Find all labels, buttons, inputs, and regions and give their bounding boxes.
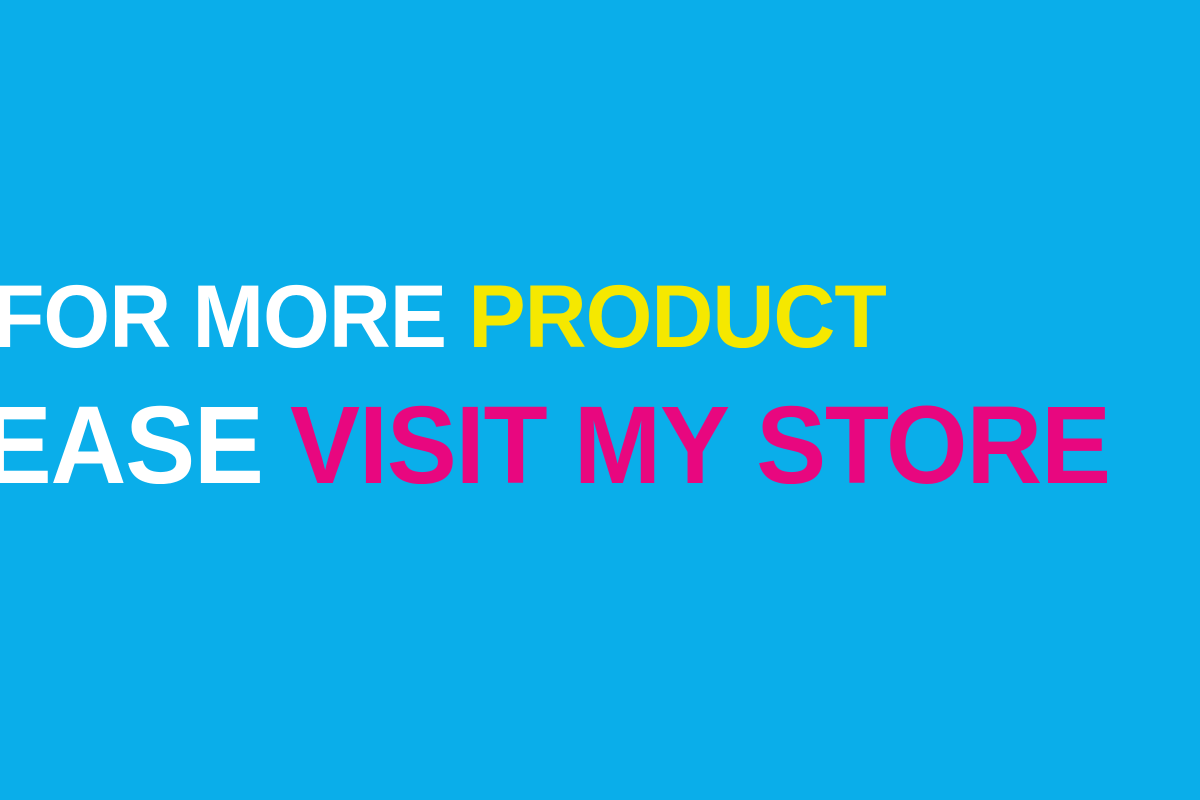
headline-word-more: MORE	[193, 266, 447, 366]
headline-word-for: FOR	[0, 266, 170, 366]
headline-word-store: STORE	[756, 384, 1110, 507]
headline-line-2: PLEASEVISITMYSTORE	[0, 391, 1110, 501]
headline-word-my: MY	[574, 384, 729, 507]
headline-word-product: PRODUCT	[468, 266, 885, 366]
promo-banner: FORMOREPRODUCT PLEASEVISITMYSTORE	[0, 0, 1200, 800]
headline-line-1: FORMOREPRODUCT	[0, 272, 886, 361]
headline-word-please: PLEASE	[0, 384, 263, 507]
headline-word-visit: VISIT	[290, 384, 546, 507]
headline-block: FORMOREPRODUCT PLEASEVISITMYSTORE	[0, 0, 1200, 800]
